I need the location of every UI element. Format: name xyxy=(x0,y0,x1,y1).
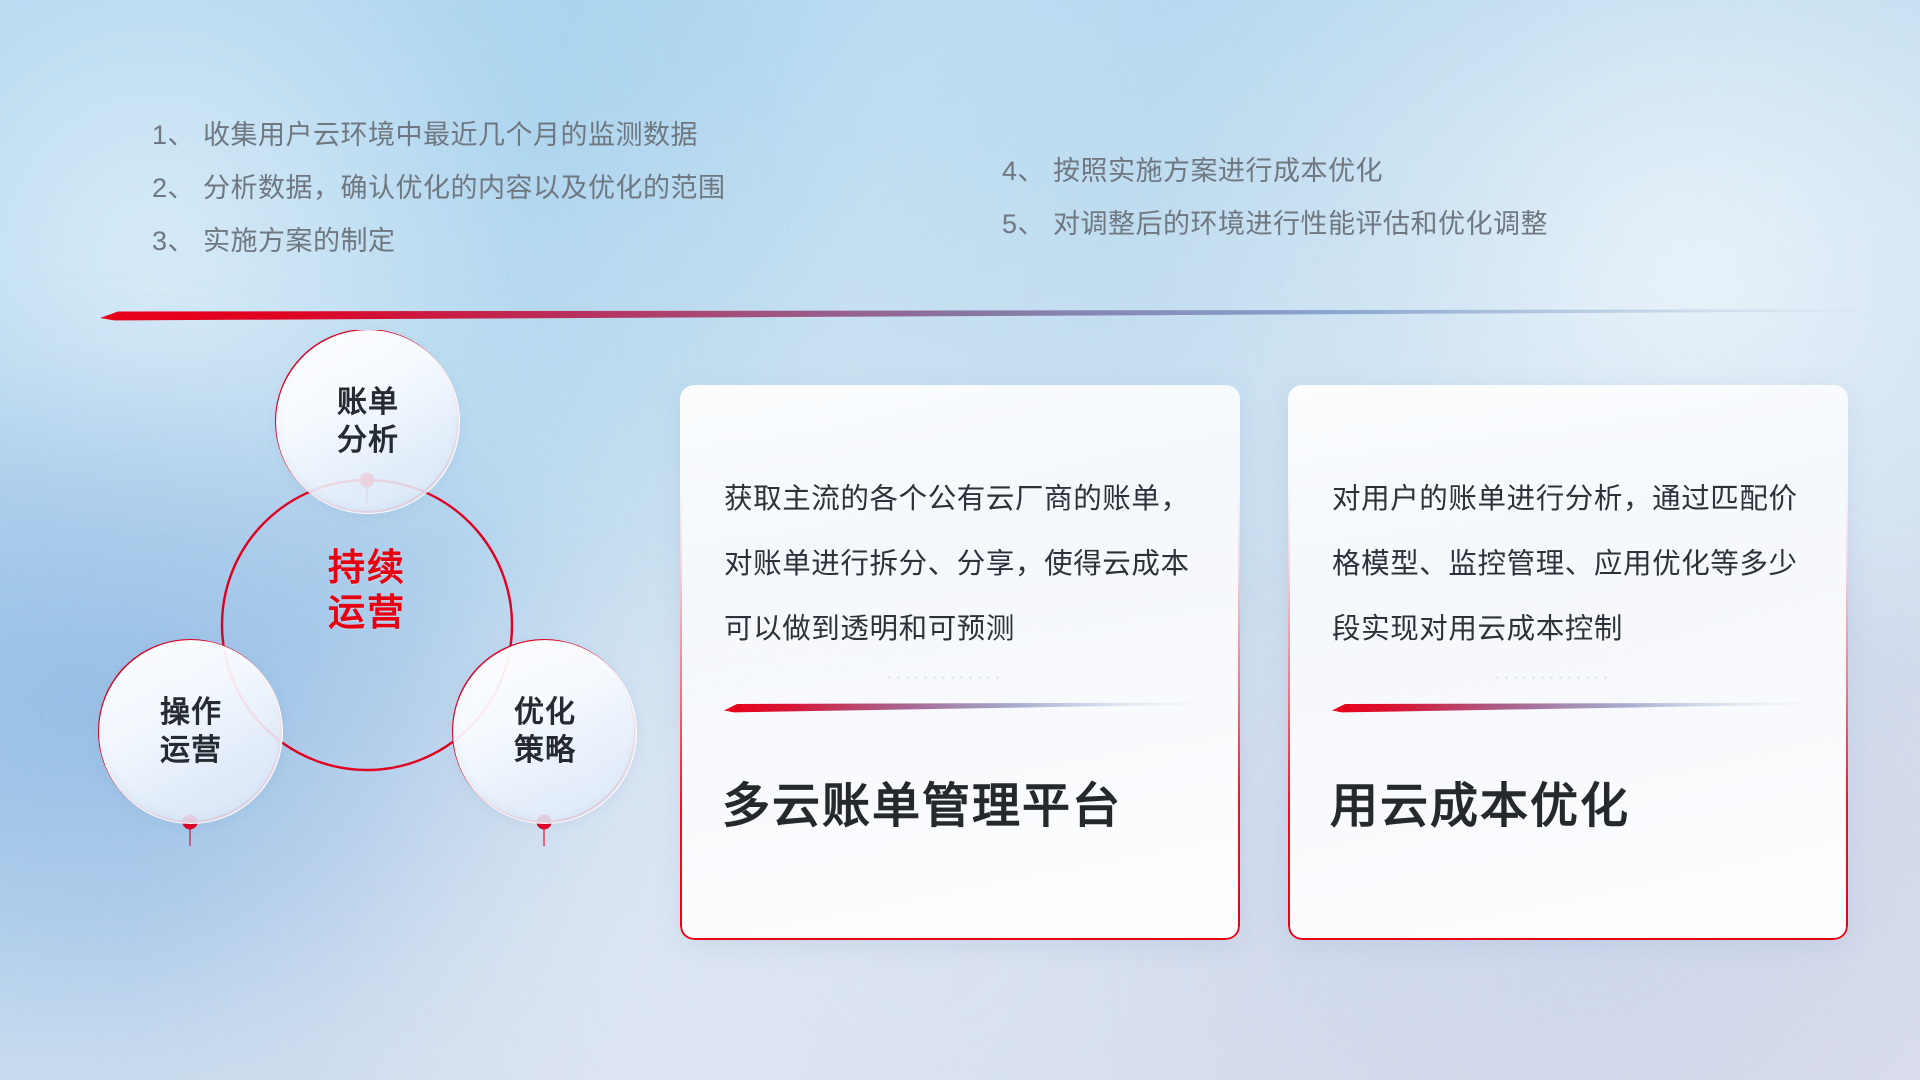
list-item-number: 4 xyxy=(1002,156,1018,186)
diagram-center-label: 持续 运营 xyxy=(276,545,458,635)
section-divider xyxy=(100,305,1855,323)
card-accent-rule xyxy=(724,700,1196,714)
list-item: 1、 收集用户云环境中最近几个月的监测数据 xyxy=(152,122,726,149)
card-title: 多云账单管理平台 xyxy=(722,781,1216,834)
feature-card-cost-optimization[interactable]: 对用户的账单进行分析，通过匹配价格模型、监控管理、应用优化等多少段实现对用云成本… xyxy=(1288,385,1848,940)
list-item-number: 5 xyxy=(1002,209,1018,239)
list-item-number: 2 xyxy=(152,173,168,203)
accent-rule-icon xyxy=(1332,700,1804,714)
node-label-line2: 分析 xyxy=(337,424,399,457)
card-accent-rule xyxy=(1332,700,1804,714)
feature-card-multicloud-billing[interactable]: 获取主流的各个公有云厂商的账单，对账单进行拆分、分享，使得云成本可以做到透明和可… xyxy=(680,385,1240,940)
node-label-line1: 操作 xyxy=(160,696,222,729)
divider-line-icon xyxy=(100,305,1855,323)
card-description: 对用户的账单进行分析，通过匹配价格模型、监控管理、应用优化等多少段实现对用云成本… xyxy=(1332,467,1820,662)
slide-root: 1、 收集用户云环境中最近几个月的监测数据 2、 分析数据，确认优化的内容以及优… xyxy=(0,0,1920,1080)
venn-diagram: 账单 分析 操作 运营 优化 策略 持续 运营 xyxy=(95,330,655,950)
card-title: 用云成本优化 xyxy=(1330,781,1824,834)
dots-decoration xyxy=(1493,673,1613,681)
list-item: 5、 对调整后的环境进行性能评估和优化调整 xyxy=(1002,211,1548,238)
center-label-line2: 运营 xyxy=(328,592,406,633)
diagram-node-bill-analysis[interactable]: 账单 分析 xyxy=(276,330,460,514)
accent-rule-icon xyxy=(724,700,1196,714)
list-item-number: 3 xyxy=(152,226,168,256)
list-item-label: 、 实施方案的制定 xyxy=(168,226,396,256)
list-item-label: 、 按照实施方案进行成本优化 xyxy=(1018,156,1384,186)
node-label-line2: 策略 xyxy=(514,734,576,767)
card-description: 获取主流的各个公有云厂商的账单，对账单进行拆分、分享，使得云成本可以做到透明和可… xyxy=(724,467,1212,662)
diagram-node-operations[interactable]: 操作 运营 xyxy=(99,640,283,824)
list-item-label: 、 收集用户云环境中最近几个月的监测数据 xyxy=(168,120,699,150)
node-label-line2: 运营 xyxy=(160,734,222,767)
center-label-line1: 持续 xyxy=(328,547,406,588)
list-item: 2、 分析数据，确认优化的内容以及优化的范围 xyxy=(152,175,726,202)
list-item-number: 1 xyxy=(152,120,168,150)
node-label-line1: 优化 xyxy=(514,696,576,729)
list-item: 3、 实施方案的制定 xyxy=(152,228,726,255)
list-item-label: 、 对调整后的环境进行性能评估和优化调整 xyxy=(1018,209,1549,239)
dots-decoration xyxy=(885,673,1005,681)
node-label-line1: 账单 xyxy=(337,386,399,419)
list-item-label: 、 分析数据，确认优化的内容以及优化的范围 xyxy=(168,173,726,203)
steps-list-right: 4、 按照实施方案进行成本优化 5、 对调整后的环境进行性能评估和优化调整 xyxy=(1002,158,1548,264)
steps-list-left: 1、 收集用户云环境中最近几个月的监测数据 2、 分析数据，确认优化的内容以及优… xyxy=(152,122,726,281)
list-item: 4、 按照实施方案进行成本优化 xyxy=(1002,158,1548,185)
diagram-node-optimization-strategy[interactable]: 优化 策略 xyxy=(453,640,637,824)
